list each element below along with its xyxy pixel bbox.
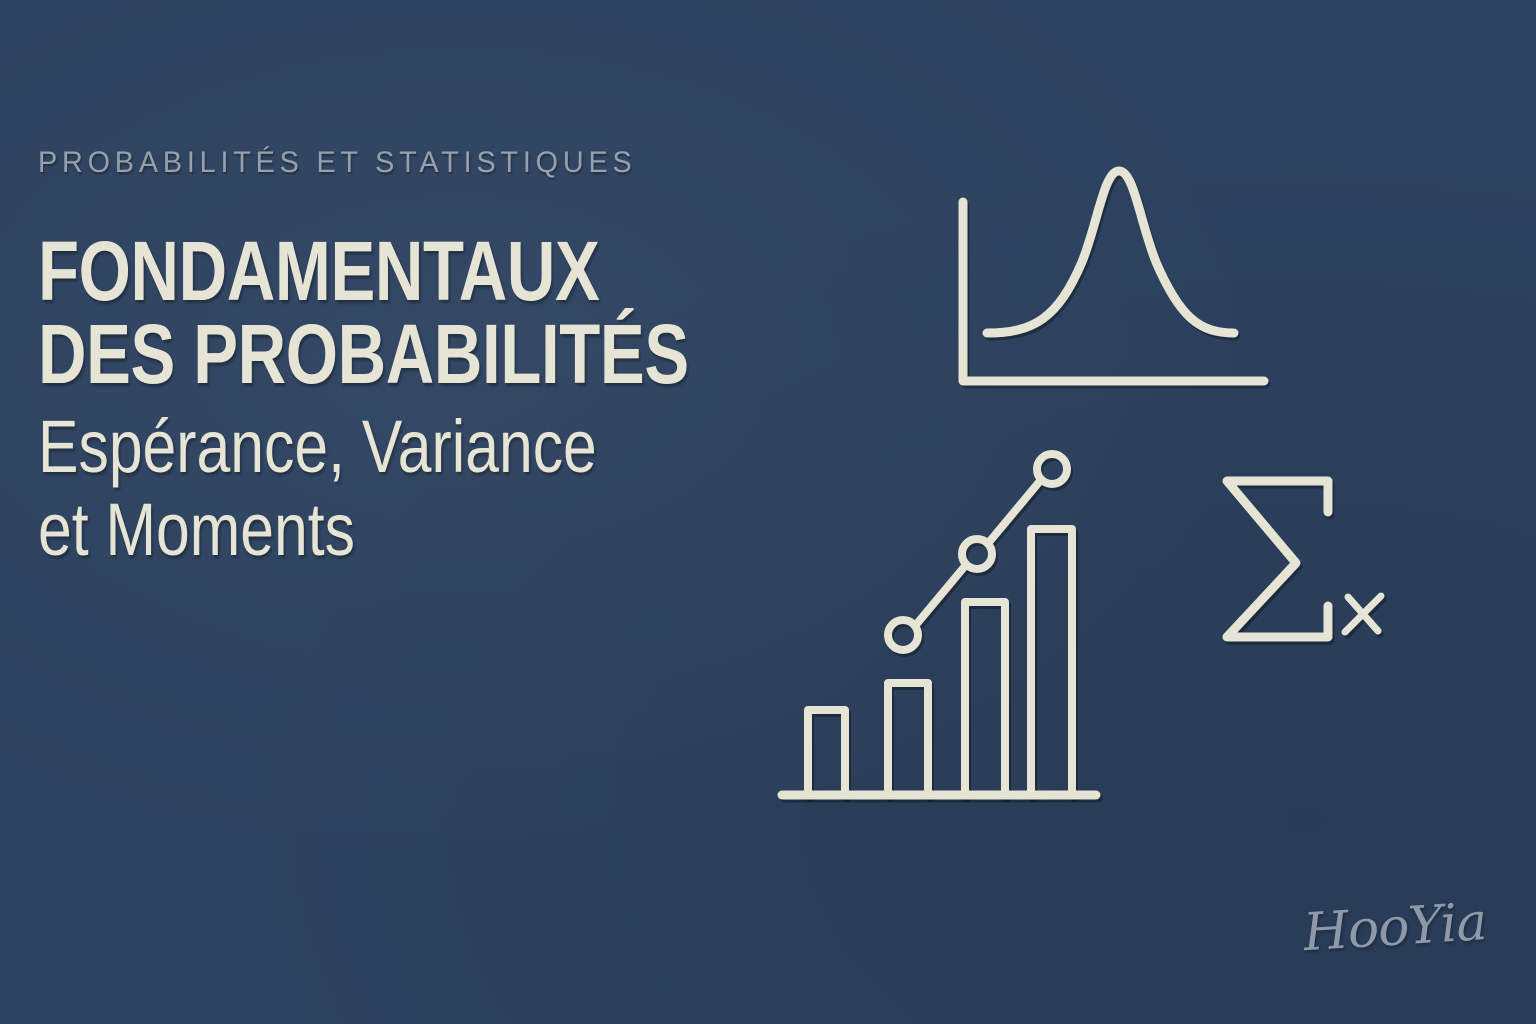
page-subtitle-line-2: et Moments bbox=[38, 489, 743, 572]
trend-line-segment-2 bbox=[990, 481, 1040, 541]
title-text-block: PROBABILITÉS ET STATISTIQUES FONDAMENTAU… bbox=[38, 148, 898, 572]
normal-distribution-curve-icon bbox=[963, 171, 1266, 384]
bar-1 bbox=[808, 710, 845, 795]
page-subtitle: Espérance, Variance et Moments bbox=[38, 406, 743, 572]
brand-logo[interactable]: HooYia bbox=[1302, 892, 1488, 963]
page-title: FONDAMENTAUX DES PROBABILITÉS bbox=[38, 230, 726, 396]
sigma-subscript-x bbox=[1347, 599, 1383, 635]
bar-2 bbox=[888, 683, 928, 795]
page-title-line-1: FONDAMENTAUX bbox=[38, 230, 726, 313]
trend-marker-3 bbox=[1037, 454, 1067, 484]
eyebrow-category-label: PROBABILITÉS ET STATISTIQUES bbox=[38, 148, 864, 178]
bell-curve-path bbox=[987, 171, 1234, 333]
page-subtitle-line-1: Espérance, Variance bbox=[38, 406, 743, 489]
trend-marker-2 bbox=[962, 539, 992, 569]
sigma-glyph-path bbox=[1227, 481, 1328, 637]
bell-curve-axes bbox=[963, 202, 1264, 381]
bar-4 bbox=[1031, 529, 1072, 795]
trend-line-segment-1 bbox=[915, 566, 965, 626]
summation-symbol-icon bbox=[1227, 481, 1383, 640]
trend-marker-1 bbox=[888, 620, 918, 650]
page-title-line-2: DES PROBABILITÉS bbox=[38, 313, 726, 396]
bar-3 bbox=[965, 602, 1005, 795]
slide-canvas: PROBABILITÉS ET STATISTIQUES FONDAMENTAU… bbox=[0, 0, 1536, 1024]
